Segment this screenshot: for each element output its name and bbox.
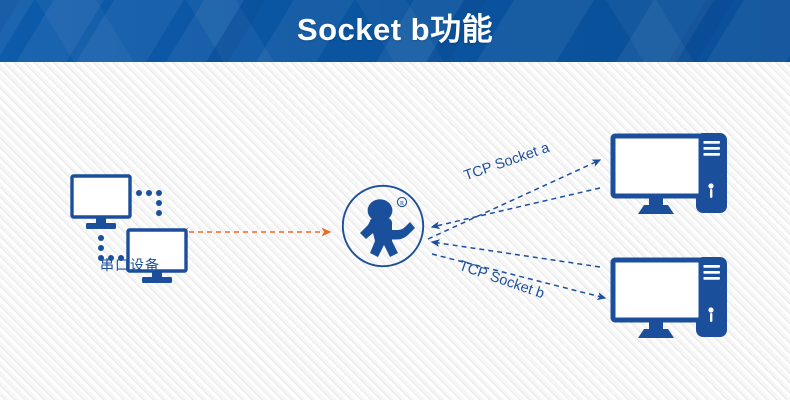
serial-device-node	[70, 172, 190, 307]
page-title: Socket b功能	[0, 0, 790, 62]
pc-a-node	[610, 130, 730, 222]
socket-b-label: TCP Socket b	[457, 258, 547, 302]
page-header: Socket b功能	[0, 0, 790, 62]
monitor-upper-icon	[72, 176, 130, 229]
two-monitors-icon	[70, 172, 190, 307]
desktop-computer-icon	[610, 130, 730, 222]
pc-b-node	[610, 254, 730, 346]
dotted-connector-upper	[136, 190, 162, 216]
svg-text:R: R	[400, 201, 404, 207]
registered-mark-icon: R	[397, 197, 406, 207]
usr-person-logo-icon: R	[340, 183, 426, 269]
socket-a-link	[428, 160, 600, 239]
serial-device-label: 串口设备	[60, 255, 200, 275]
desktop-computer-icon	[610, 254, 730, 346]
socket-a-label: TCP Socket a	[462, 140, 552, 184]
diagram-canvas: TCP Socket a TCP Socket b	[0, 62, 790, 400]
gateway-node: R	[340, 183, 426, 269]
diagram-page: Socket b功能	[0, 0, 790, 400]
